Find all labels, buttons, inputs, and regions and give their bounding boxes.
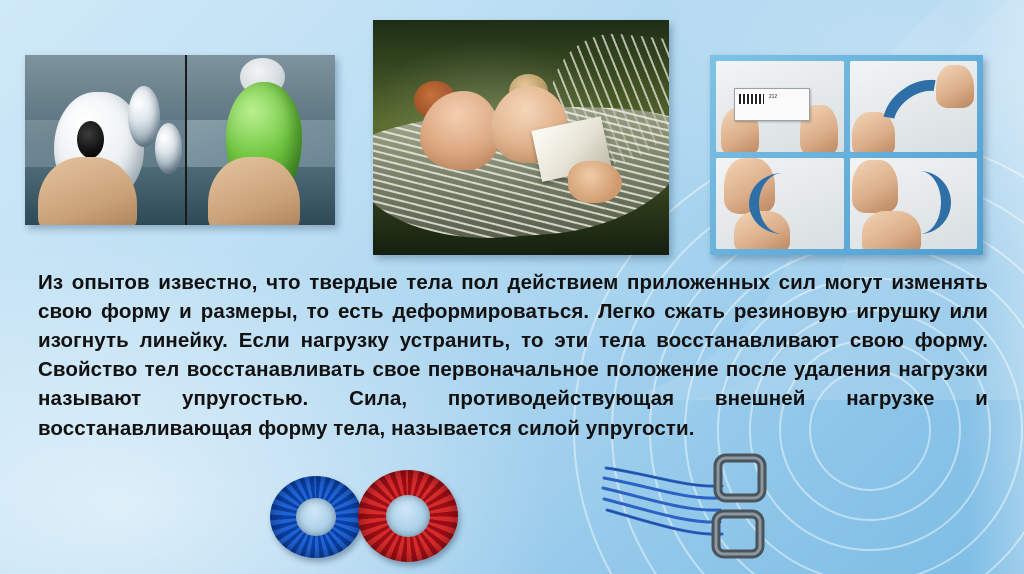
bending-panel-1: 212 xyxy=(716,61,844,152)
metal-ball-lower xyxy=(155,123,182,174)
red-rubber-ring xyxy=(358,470,458,562)
photo-children-in-hammock xyxy=(373,20,669,255)
slide-canvas: 212 Из опытов из xyxy=(0,0,1024,574)
bending-panel-2 xyxy=(850,61,978,152)
photo-bending-strip-panels: 212 xyxy=(710,55,983,255)
panel-green-toy xyxy=(185,55,335,225)
photo-light-overlay xyxy=(373,20,669,255)
blue-rubber-ring xyxy=(270,476,362,558)
barcode-icon xyxy=(739,94,764,105)
photo-squeeze-toys xyxy=(25,55,335,225)
rubber-rings-group xyxy=(270,470,460,565)
card-number: 212 xyxy=(769,94,777,100)
measuring-card: 212 xyxy=(734,88,810,121)
hand-squeezing-green-toy xyxy=(208,157,300,225)
metal-ball-upper xyxy=(128,86,160,147)
chest-expander xyxy=(590,452,770,574)
bending-panel-4 xyxy=(850,158,978,249)
bending-panel-3 xyxy=(716,158,844,249)
expander-handle-upper xyxy=(718,458,762,498)
slide-body-text: Из опытов известно, что твердые тела пол… xyxy=(38,268,988,443)
photo-squeeze-toys-panels xyxy=(25,55,335,225)
hammock-scene xyxy=(373,20,669,255)
panel-white-toy xyxy=(25,55,185,225)
bending-panels-grid: 212 xyxy=(716,61,977,249)
white-toy-eye xyxy=(77,121,104,158)
strip-bent-s-left xyxy=(749,173,818,235)
